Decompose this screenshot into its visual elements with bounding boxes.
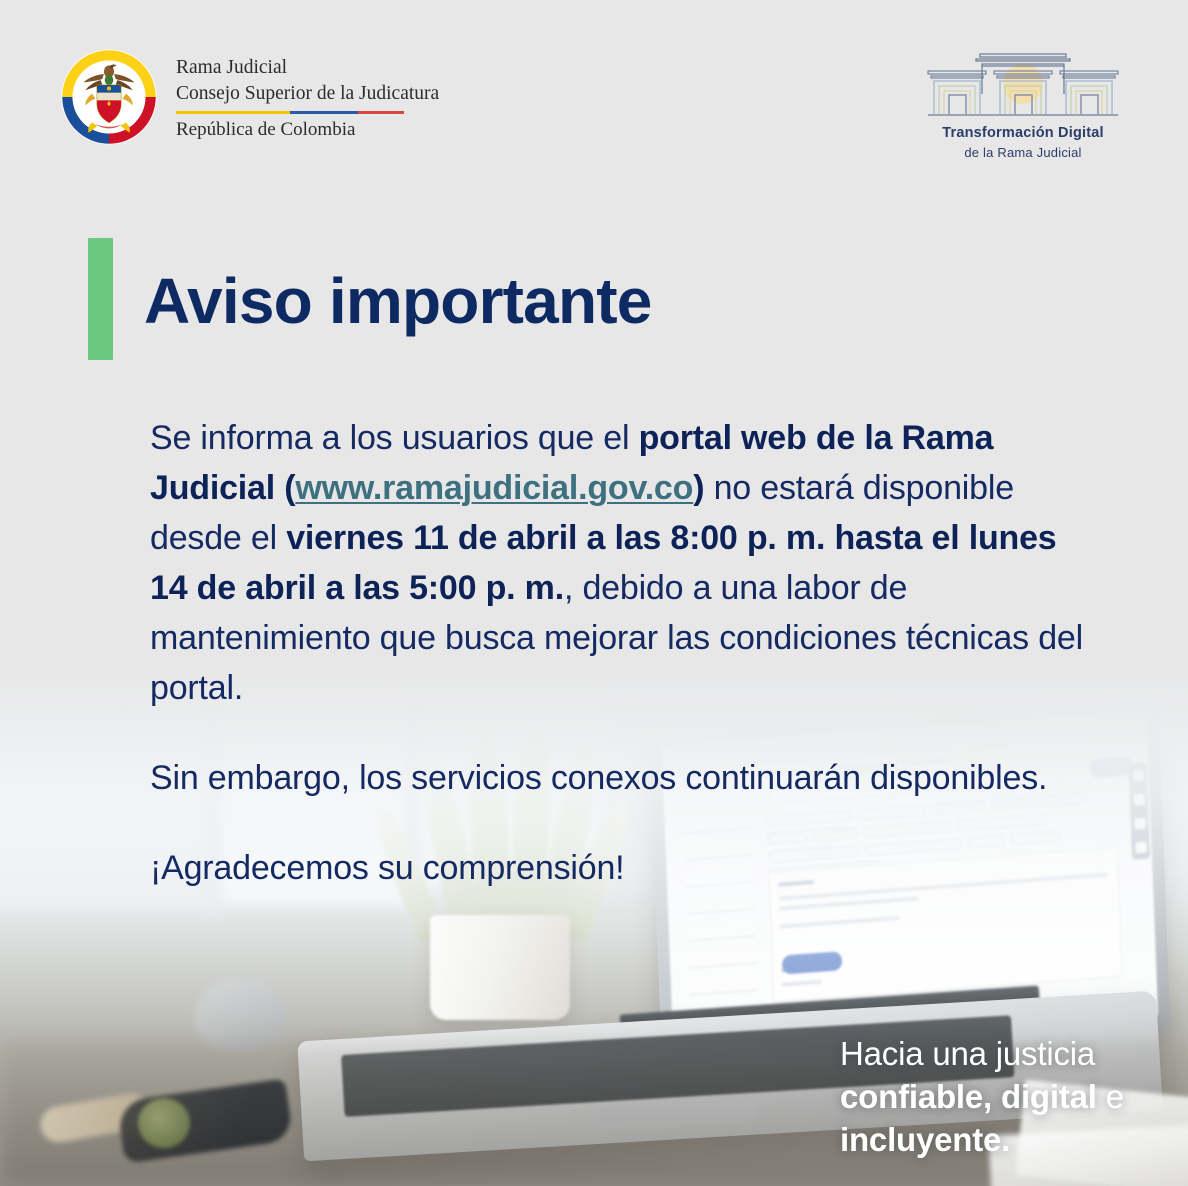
- paragraph-1: Se informa a los usuarios que el portal …: [150, 414, 1095, 714]
- tagline-mid: e: [1097, 1078, 1124, 1115]
- rule-blue: [290, 111, 358, 114]
- accessibility-icon: [1135, 841, 1146, 853]
- brand-line-1: Rama Judicial: [176, 55, 439, 80]
- green-accent-bar: [88, 238, 113, 360]
- announcement-body: Se informa a los usuarios que el portal …: [150, 414, 1095, 894]
- rule-red: [358, 111, 404, 114]
- paragraph-2: Sin embargo, los servicios conexos conti…: [150, 754, 1095, 804]
- transformacion-digital-logo: Transformación Digital de la Rama Judici…: [920, 48, 1126, 160]
- plant-pot: [430, 915, 570, 1020]
- poster-header: Rama Judicial Consejo Superior de la Jud…: [0, 0, 1188, 180]
- courthouse-arches-icon: [920, 48, 1126, 122]
- page-title: Aviso importante: [144, 269, 652, 333]
- screen-accessibility-toolbar: [1128, 762, 1150, 859]
- ramajudicial-link[interactable]: www.ramajudicial.gov.co: [295, 469, 693, 507]
- accessibility-icon: [1134, 817, 1145, 829]
- accessibility-icon: [1132, 769, 1143, 781]
- p1-part1: Se informa a los usuarios que el: [150, 419, 639, 457]
- rama-judicial-logo: Rama Judicial Consejo Superior de la Jud…: [58, 46, 439, 148]
- p1-bold-close: ): [693, 469, 704, 507]
- transformacion-digital-title: Transformación Digital: [942, 125, 1104, 142]
- paragraph-3: ¡Agradecemos su comprensión!: [150, 844, 1095, 894]
- tagline-bold1: confiable, digital: [840, 1078, 1097, 1115]
- transformacion-digital-subtitle: de la Rama Judicial: [964, 145, 1081, 160]
- brand-subtitle: República de Colombia: [176, 119, 439, 141]
- escudo-colombia-icon: [58, 46, 160, 148]
- brand-line-2: Consejo Superior de la Judicatura: [176, 81, 439, 106]
- screen-filter-field: [688, 919, 757, 941]
- screen-filter-field: [689, 946, 758, 968]
- page-title-block: Aviso importante: [88, 238, 652, 360]
- tagline-line1: Hacia una justicia: [840, 1035, 1095, 1072]
- desk-glasses-lens: [138, 1098, 190, 1148]
- rule-yellow: [176, 111, 290, 114]
- tagline-bold2: incluyente.: [840, 1121, 1010, 1158]
- rama-judicial-wordmark: Rama Judicial Consejo Superior de la Jud…: [176, 53, 439, 141]
- screen-filter-field: [687, 892, 756, 914]
- tricolor-rule: [176, 111, 404, 114]
- accessibility-icon: [1133, 793, 1144, 805]
- screen-filter-field: [690, 973, 759, 995]
- aviso-poster: Publicaciones Procesales: [0, 0, 1188, 1186]
- tagline: Hacia una justicia confiable, digital e …: [840, 1033, 1140, 1162]
